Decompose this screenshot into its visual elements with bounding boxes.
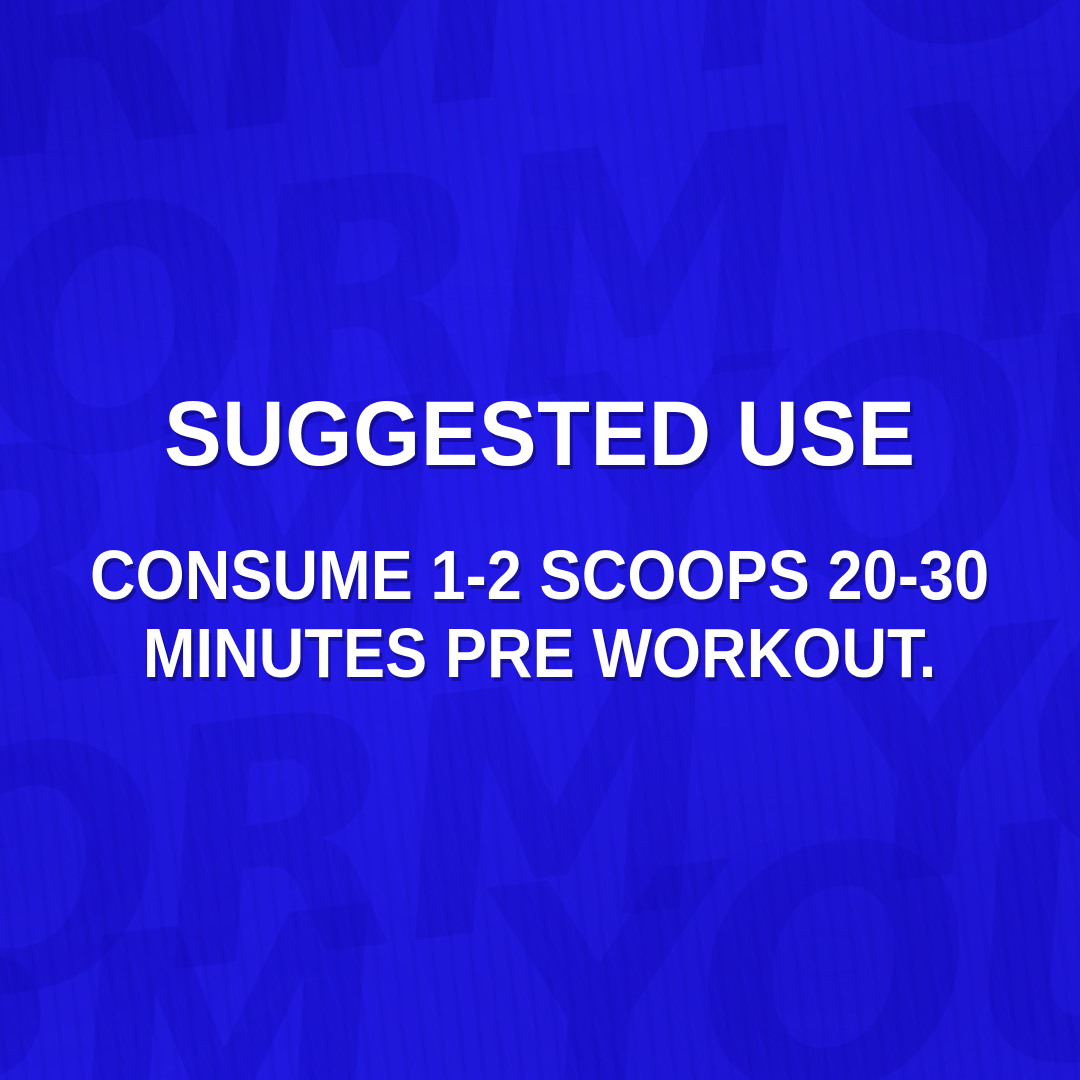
instruction-line-1: CONSUME 1-2 SCOOPS 20-30 — [90, 536, 989, 614]
suggested-use-poster: PERFORM YOUR PERFORM YOUR PERFORM YOUR P… — [0, 0, 1080, 1080]
page-title: SUGGESTED USE — [164, 388, 916, 480]
instruction-text: CONSUME 1-2 SCOOPS 20-30 MINUTES PRE WOR… — [90, 536, 989, 693]
poster-content: SUGGESTED USE CONSUME 1-2 SCOOPS 20-30 M… — [0, 0, 1080, 1080]
instruction-line-2: MINUTES PRE WORKOUT. — [90, 614, 989, 692]
